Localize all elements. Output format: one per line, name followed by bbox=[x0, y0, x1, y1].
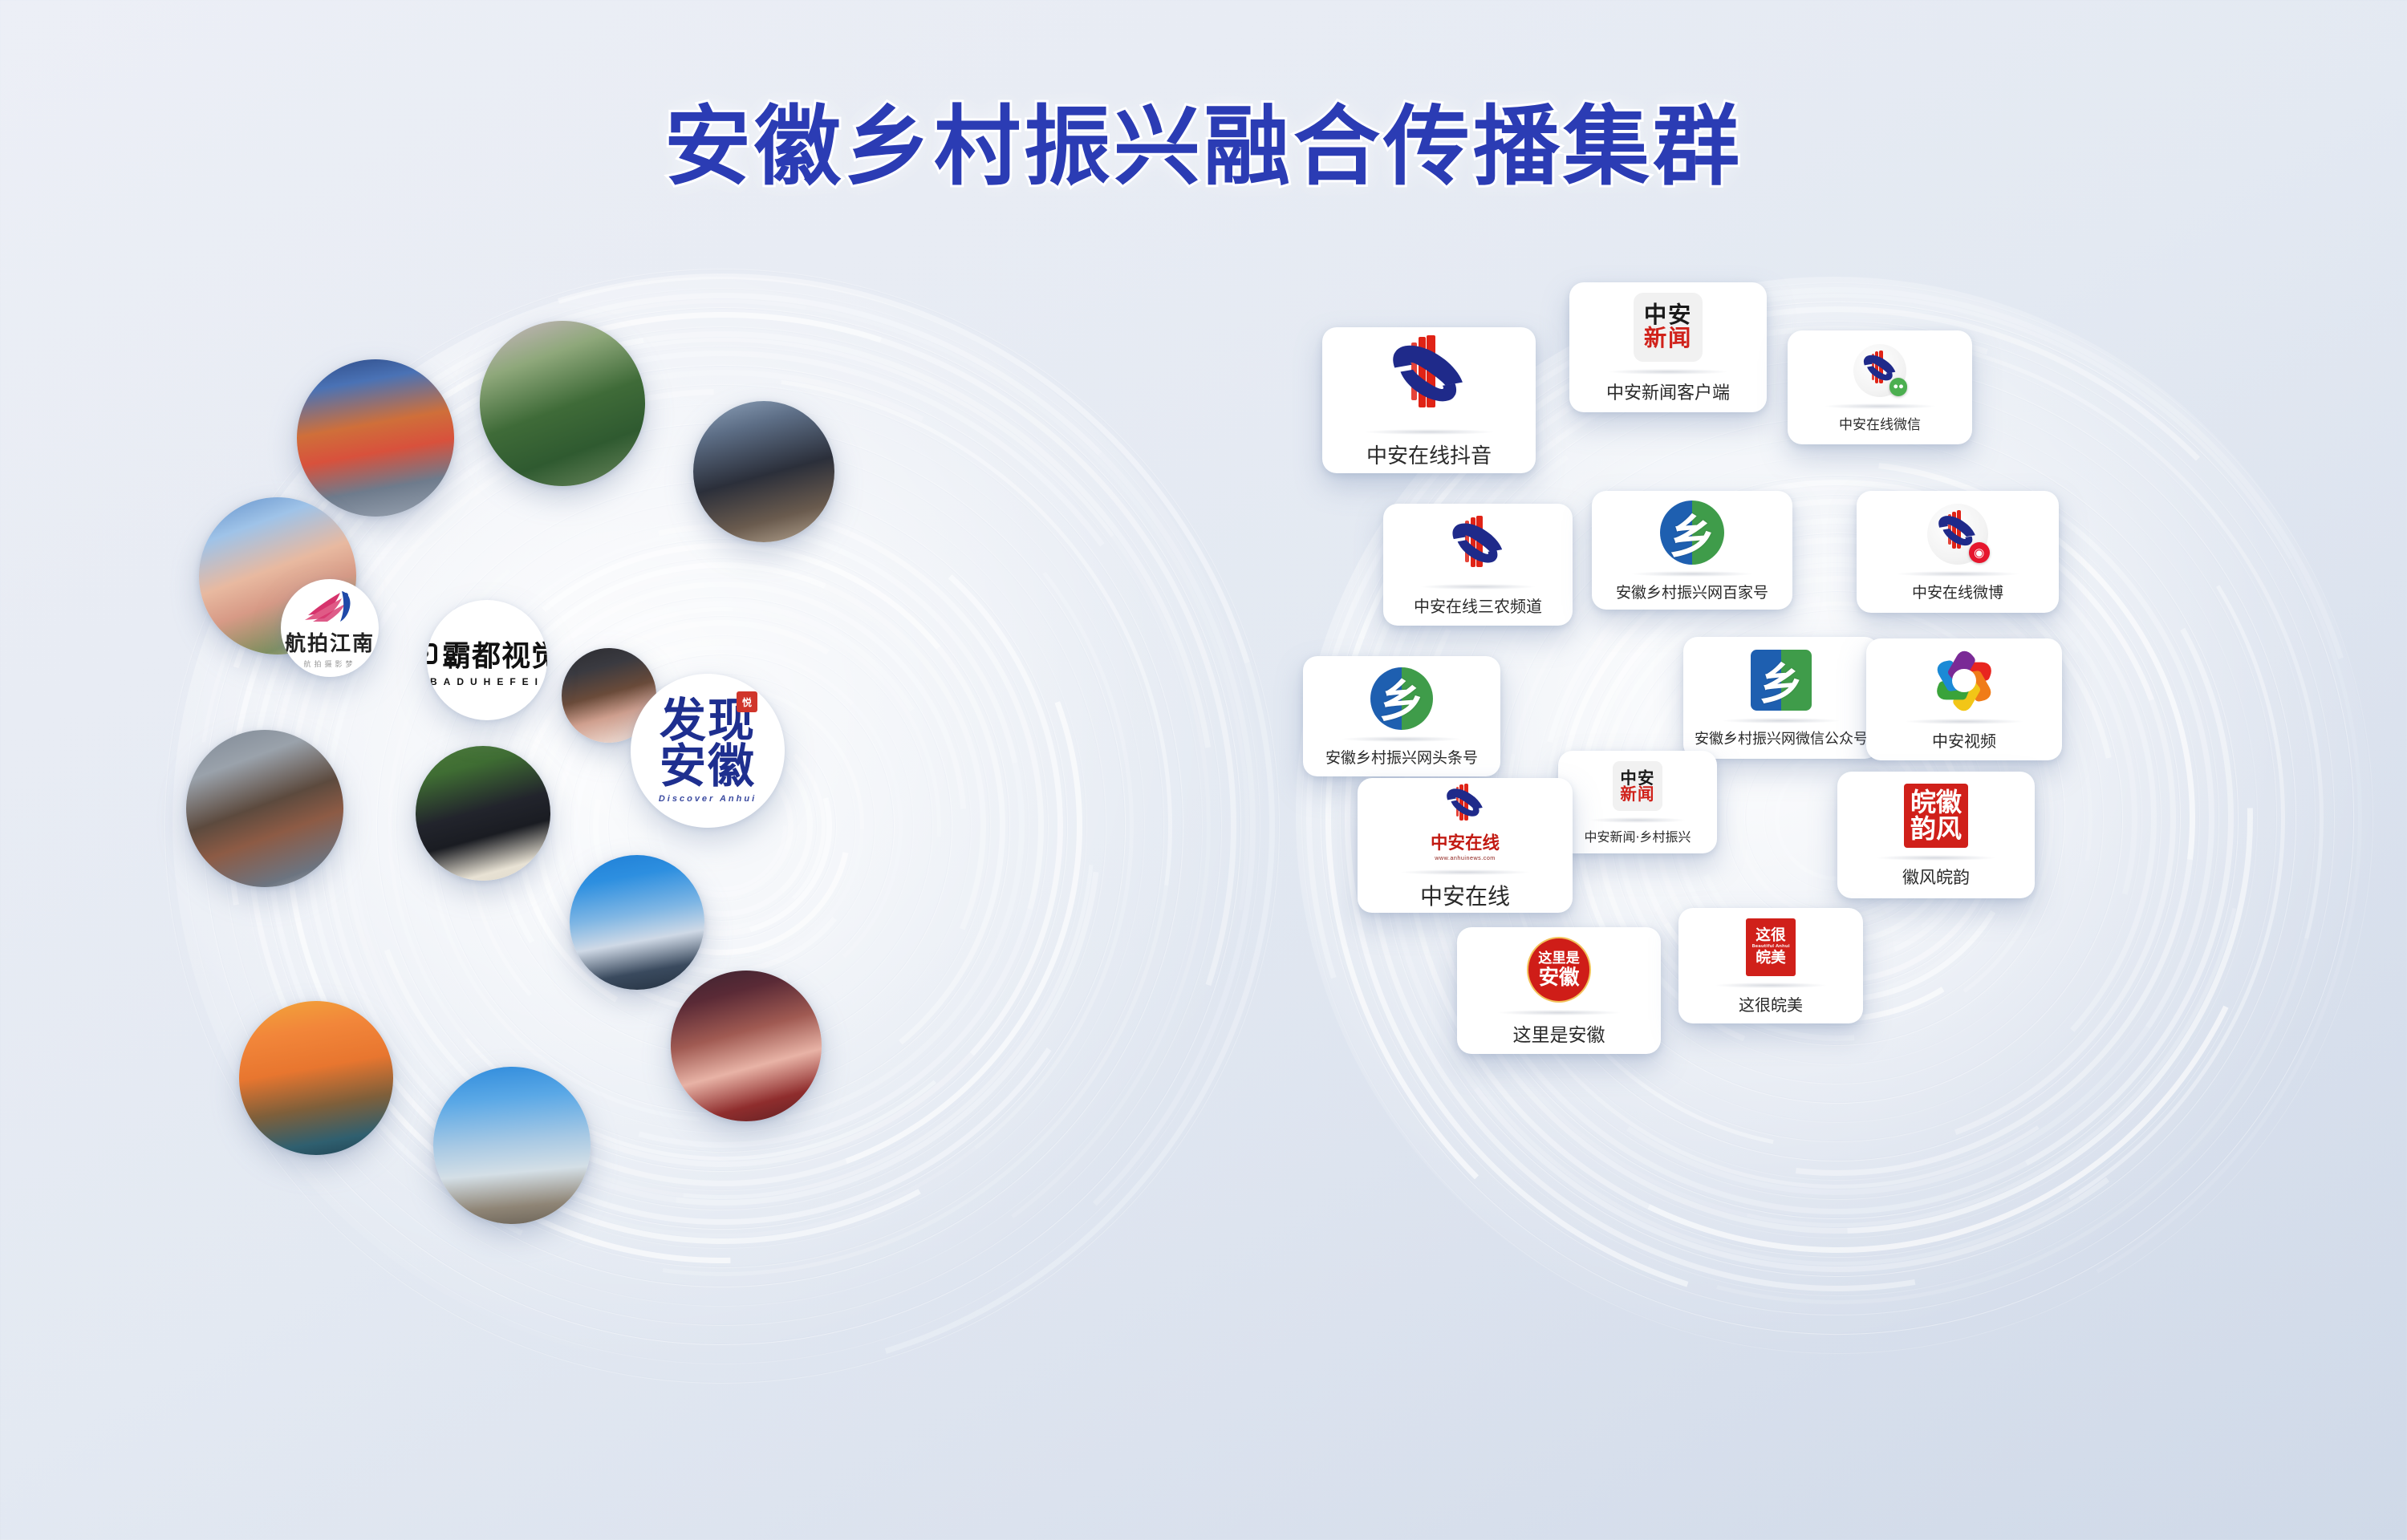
zhongan-online-logo bbox=[1385, 334, 1473, 422]
media-card-logo: 这很 Beautiful Anhui 皖美 bbox=[1746, 916, 1796, 979]
huifeng-wanyun-logo: 皖徽韵风 bbox=[1904, 784, 1968, 848]
beautiful-anhui-logo: 这很 Beautiful Anhui 皖美 bbox=[1746, 918, 1796, 976]
hangpai-jiangnan-sublabel: 航拍摄影梦 bbox=[303, 659, 355, 669]
zhongan-online-logo bbox=[1447, 515, 1509, 577]
ahxczx-glyph: 乡 bbox=[1660, 500, 1724, 565]
badu-shijue-logo: 霸都视觉 BADUHEFEI bbox=[427, 633, 547, 687]
creator-photo-image bbox=[671, 971, 822, 1121]
camera-icon bbox=[427, 643, 437, 664]
media-card-logo: ◉ bbox=[1927, 501, 1988, 567]
creator-photo-image bbox=[433, 1067, 591, 1224]
creator-photo-image bbox=[239, 1001, 393, 1155]
huifeng-wanyun-text: 皖徽韵风 bbox=[1910, 789, 1963, 841]
zhongan-news-line1: 中安 bbox=[1644, 304, 1692, 326]
ahxczx-circle-logo: 乡 bbox=[1370, 667, 1433, 730]
wechat-badge-icon: ●● bbox=[1889, 378, 1907, 395]
media-card-label: 中安在线三农频道 bbox=[1414, 594, 1542, 617]
creator-photo-image bbox=[297, 359, 454, 517]
media-card-logo bbox=[1385, 331, 1473, 424]
logo-shadow bbox=[1342, 736, 1461, 742]
wechat-glyph: ●● bbox=[1893, 383, 1904, 391]
zhongan-news-line2: 新闻 bbox=[1620, 786, 1654, 802]
logo-shadow bbox=[1897, 571, 2018, 577]
weibo-badge-icon: ◉ bbox=[1969, 542, 1990, 563]
media-card-logo: 乡 bbox=[1370, 665, 1433, 732]
media-card-logo: 这里是 安徽 bbox=[1527, 934, 1591, 1005]
media-card-logo: 中安 新闻 bbox=[1634, 290, 1703, 364]
media-card-label: 中安在线微信 bbox=[1839, 413, 1921, 433]
page-title: 安徽乡村振兴融合传播集群 bbox=[664, 77, 1743, 202]
creator-matrix-cluster: 航拍江南 航拍摄影梦 霸都视觉 BADUHEFEI 悦 发现安徽 Discove… bbox=[160, 265, 1284, 1388]
creator-photo-photo-girl-grass[interactable] bbox=[416, 746, 550, 881]
logo-shadow bbox=[1825, 403, 1935, 409]
media-card-zhongan-online-weibo[interactable]: ◉ 中安在线微博 bbox=[1857, 491, 2059, 613]
creator-photo-photo-young-man[interactable] bbox=[693, 401, 834, 542]
page-title-container: 安徽乡村振兴融合传播集群 bbox=[0, 77, 2407, 202]
badu-shijue-sublabel: BADUHEFEI bbox=[430, 676, 544, 687]
media-card-this-is-beautiful-anhui[interactable]: 这很 Beautiful Anhui 皖美 这很皖美 bbox=[1678, 908, 1863, 1023]
zhongan-video-logo bbox=[1933, 650, 1995, 712]
media-card-ahxczx-wechat-mp[interactable]: 乡 安徽乡村振兴网微信公众号 bbox=[1683, 637, 1879, 759]
media-card-label: 中安在线微博 bbox=[1912, 581, 2003, 602]
beautiful-anhui-line2: 皖美 bbox=[1756, 950, 1785, 967]
creator-photo-image bbox=[570, 855, 704, 990]
creator-photo-photo-street-performer[interactable] bbox=[297, 359, 454, 517]
beautiful-anhui-line1: 这很 bbox=[1756, 928, 1785, 944]
logo-shadow bbox=[1723, 718, 1840, 723]
media-card-label: 这里是安徽 bbox=[1513, 1019, 1605, 1047]
media-card-logo: 皖徽韵风 bbox=[1904, 781, 1968, 850]
media-card-zhongan-online-wechat[interactable]: ●● 中安在线微信 bbox=[1788, 330, 1972, 444]
logo-shadow bbox=[1365, 429, 1493, 435]
media-card-logo: 乡 bbox=[1751, 647, 1812, 713]
media-card-logo: 乡 bbox=[1660, 498, 1724, 567]
ahxczx-circle-logo: 乡 bbox=[1660, 500, 1724, 565]
zhongan-online-logo bbox=[1443, 783, 1488, 828]
media-card-logo: 中安 新闻 bbox=[1613, 759, 1662, 813]
media-card-label: 中安在线 bbox=[1420, 879, 1510, 911]
ahxczx-square-logo: 乡 bbox=[1751, 650, 1812, 711]
this-is-anhui-logo: 这里是 安徽 bbox=[1527, 937, 1591, 1003]
beautiful-anhui-sub: Beautiful Anhui bbox=[1751, 945, 1789, 950]
media-card-label: 中安视频 bbox=[1932, 728, 1996, 752]
creator-badge-faxian-anhui[interactable]: 悦 发现安徽 Discover Anhui bbox=[631, 674, 785, 828]
creator-photo-photo-mountain-top[interactable] bbox=[433, 1067, 591, 1224]
media-card-label: 中安新闻客户端 bbox=[1606, 379, 1730, 404]
media-card-this-is-anhui[interactable]: 这里是 安徽 这里是安徽 bbox=[1457, 927, 1661, 1054]
hangpai-jiangnan-label: 航拍江南 bbox=[285, 627, 375, 657]
logo-shadow bbox=[1632, 571, 1752, 577]
media-card-label: 安徽乡村振兴网百家号 bbox=[1616, 581, 1768, 602]
media-card-zhongan-online[interactable]: 中安在线 www.anhuinews.com 中安在线 bbox=[1358, 778, 1573, 913]
media-platform-cluster: 中安在线抖音 中安 新闻 中安新闻客户端 ●● 中安在线微信 bbox=[1284, 265, 2407, 1388]
zhongan-online-url: www.anhuinews.com bbox=[1435, 854, 1496, 861]
zhongan-news-logo: 中安 新闻 bbox=[1634, 293, 1703, 362]
media-card-label: 徽风皖韵 bbox=[1902, 865, 1970, 889]
creator-badge-hangpai-jiangnan[interactable]: 航拍江南 航拍摄影梦 bbox=[281, 579, 379, 677]
media-card-zhongan-online-douyin[interactable]: 中安在线抖音 bbox=[1322, 327, 1536, 473]
creator-photo-image bbox=[693, 401, 834, 542]
logo-shadow bbox=[1906, 719, 2023, 724]
creator-badge-badu-shijue[interactable]: 霸都视觉 BADUHEFEI bbox=[427, 600, 547, 720]
media-card-zhongan-news-xczx[interactable]: 中安 新闻 中安新闻·乡村振兴 bbox=[1558, 751, 1717, 853]
creator-photo-image bbox=[186, 730, 343, 887]
logo-shadow bbox=[1877, 855, 1995, 861]
creator-photo-image bbox=[416, 746, 550, 881]
zhongan-online-wechat-logo: ●● bbox=[1853, 344, 1906, 397]
media-card-logo: ●● bbox=[1853, 342, 1906, 399]
zhongan-news-logo: 中安 新闻 bbox=[1613, 761, 1662, 811]
badu-shijue-label: 霸都视觉 bbox=[442, 633, 547, 675]
media-card-logo bbox=[1447, 513, 1509, 580]
logo-shadow bbox=[1609, 369, 1727, 375]
phoenix-icon bbox=[302, 588, 358, 625]
logo-shadow bbox=[1715, 983, 1826, 988]
faxian-anhui-sublabel: Discover Anhui bbox=[659, 794, 757, 804]
creator-photo-photo-sea-man[interactable] bbox=[570, 855, 704, 990]
creator-photo-photo-huangshan-pine[interactable] bbox=[480, 321, 645, 486]
logo-shadow bbox=[1421, 584, 1535, 590]
creator-photo-image bbox=[480, 321, 645, 486]
zhongan-news-line1: 中安 bbox=[1620, 770, 1654, 786]
media-card-ahxczx-baijiahao[interactable]: 乡 安徽乡村振兴网百家号 bbox=[1592, 491, 1792, 610]
faxian-anhui-seal: 悦 bbox=[737, 691, 757, 712]
media-card-label: 安徽乡村振兴网微信公众号 bbox=[1695, 727, 1868, 748]
zhongan-news-line2: 新闻 bbox=[1644, 327, 1692, 350]
logo-shadow bbox=[1590, 817, 1686, 823]
media-card-label: 中安在线抖音 bbox=[1366, 440, 1492, 469]
media-card-zhongan-video[interactable]: 中安视频 bbox=[1866, 638, 2062, 760]
media-card-logo bbox=[1933, 647, 1995, 715]
weibo-glyph: ◉ bbox=[1974, 547, 1984, 559]
media-card-zhongan-online-sannong[interactable]: 中安在线三农频道 bbox=[1383, 504, 1573, 626]
ahxczx-glyph: 乡 bbox=[1751, 650, 1812, 711]
media-card-label: 安徽乡村振兴网头条号 bbox=[1325, 746, 1478, 768]
media-card-label: 中安新闻·乡村振兴 bbox=[1584, 826, 1691, 845]
media-card-ahxczx-toutiao[interactable]: 乡 安徽乡村振兴网头条号 bbox=[1303, 656, 1500, 776]
logo-shadow bbox=[1498, 1010, 1620, 1015]
this-is-anhui-line1: 这里是 bbox=[1538, 952, 1580, 966]
zhongan-online-calligraphy-text: 中安在线 bbox=[1431, 829, 1500, 854]
creator-photo-photo-shop-girl[interactable] bbox=[671, 971, 822, 1121]
media-card-label: 这很皖美 bbox=[1739, 992, 1803, 1015]
hangpai-jiangnan-logo: 航拍江南 航拍摄影梦 bbox=[285, 588, 375, 669]
shutter-center bbox=[1952, 669, 1976, 693]
media-card-zhongan-news-app[interactable]: 中安 新闻 中安新闻客户端 bbox=[1569, 282, 1767, 412]
media-card-huifeng-wanyun[interactable]: 皖徽韵风 徽风皖韵 bbox=[1837, 772, 2035, 898]
zhongan-online-weibo-logo: ◉ bbox=[1927, 504, 1988, 565]
ahxczx-glyph: 乡 bbox=[1370, 667, 1433, 730]
creator-photo-photo-stairs[interactable] bbox=[186, 730, 343, 887]
logo-shadow bbox=[1401, 869, 1530, 875]
badu-shijue-row: 霸都视觉 bbox=[427, 633, 547, 675]
creator-photo-photo-sunset-lake[interactable] bbox=[239, 1001, 393, 1155]
zhongan-online-calligraphy-logo: 中安在线 www.anhuinews.com bbox=[1425, 783, 1505, 861]
media-card-logo: 中安在线 www.anhuinews.com bbox=[1425, 780, 1505, 865]
this-is-anhui-line2: 安徽 bbox=[1539, 967, 1580, 987]
